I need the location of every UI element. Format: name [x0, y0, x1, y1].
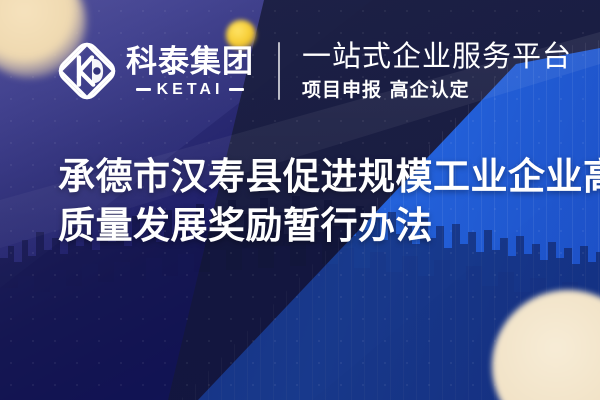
brand-wordmark: 科泰集团 KETAI — [126, 46, 254, 98]
brand-name-en-row: KETAI — [136, 82, 245, 98]
brand-header: 科泰集团 KETAI 一站式企业服务平台 项目申报 高企认定 — [56, 40, 572, 102]
tagline-main: 一站式企业服务平台 — [302, 40, 572, 72]
page-title-line-1: 承德市汉寿县促进规模工业企业高 — [58, 153, 558, 202]
tagline-block: 一站式企业服务平台 项目申报 高企认定 — [302, 40, 572, 101]
page-title: 承德市汉寿县促进规模工业企业高 质量发展奖励暂行办法 — [58, 153, 558, 251]
cream-glow-circle-bottom-right — [492, 290, 600, 400]
brand-name-cn: 科泰集团 — [126, 46, 254, 79]
vertical-divider — [278, 42, 280, 100]
tagline-sub: 项目申报 高企认定 — [302, 80, 572, 102]
dash-left-icon — [136, 88, 151, 91]
brand-name-en: KETAI — [157, 82, 224, 98]
dash-right-icon — [229, 88, 244, 91]
promo-banner: 科泰集团 KETAI 一站式企业服务平台 项目申报 高企认定 承德市汉寿县促进规… — [0, 0, 600, 400]
page-title-line-2: 质量发展奖励暂行办法 — [58, 202, 558, 251]
ketai-logo-icon — [56, 40, 118, 102]
